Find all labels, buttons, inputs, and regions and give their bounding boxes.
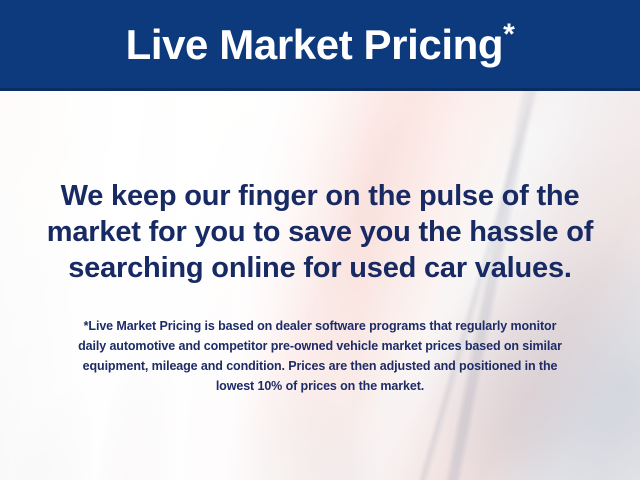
disclaimer-text: *Live Market Pricing is based on dealer … [0, 316, 640, 396]
headline: We keep our finger on the pulse of the m… [0, 178, 640, 286]
page-title-text: Live Market Pricing [126, 21, 504, 68]
disclaimer-line-1: *Live Market Pricing is based on dealer … [0, 316, 640, 336]
disclaimer-line-2: daily automotive and competitor pre-owne… [0, 336, 640, 356]
headline-line-3: searching online for used car values. [0, 250, 640, 286]
live-market-pricing-banner: Live Market Pricing* We keep our finger … [0, 0, 640, 480]
disclaimer-line-3: equipment, mileage and condition. Prices… [0, 356, 640, 376]
headline-line-1: We keep our finger on the pulse of the [0, 178, 640, 214]
headline-line-2: market for you to save you the hassle of [0, 214, 640, 250]
disclaimer-line-4: lowest 10% of prices on the market. [0, 376, 640, 396]
page-title-asterisk: * [503, 18, 514, 51]
page-title: Live Market Pricing* [126, 24, 515, 68]
header-bar: Live Market Pricing* [0, 0, 640, 91]
